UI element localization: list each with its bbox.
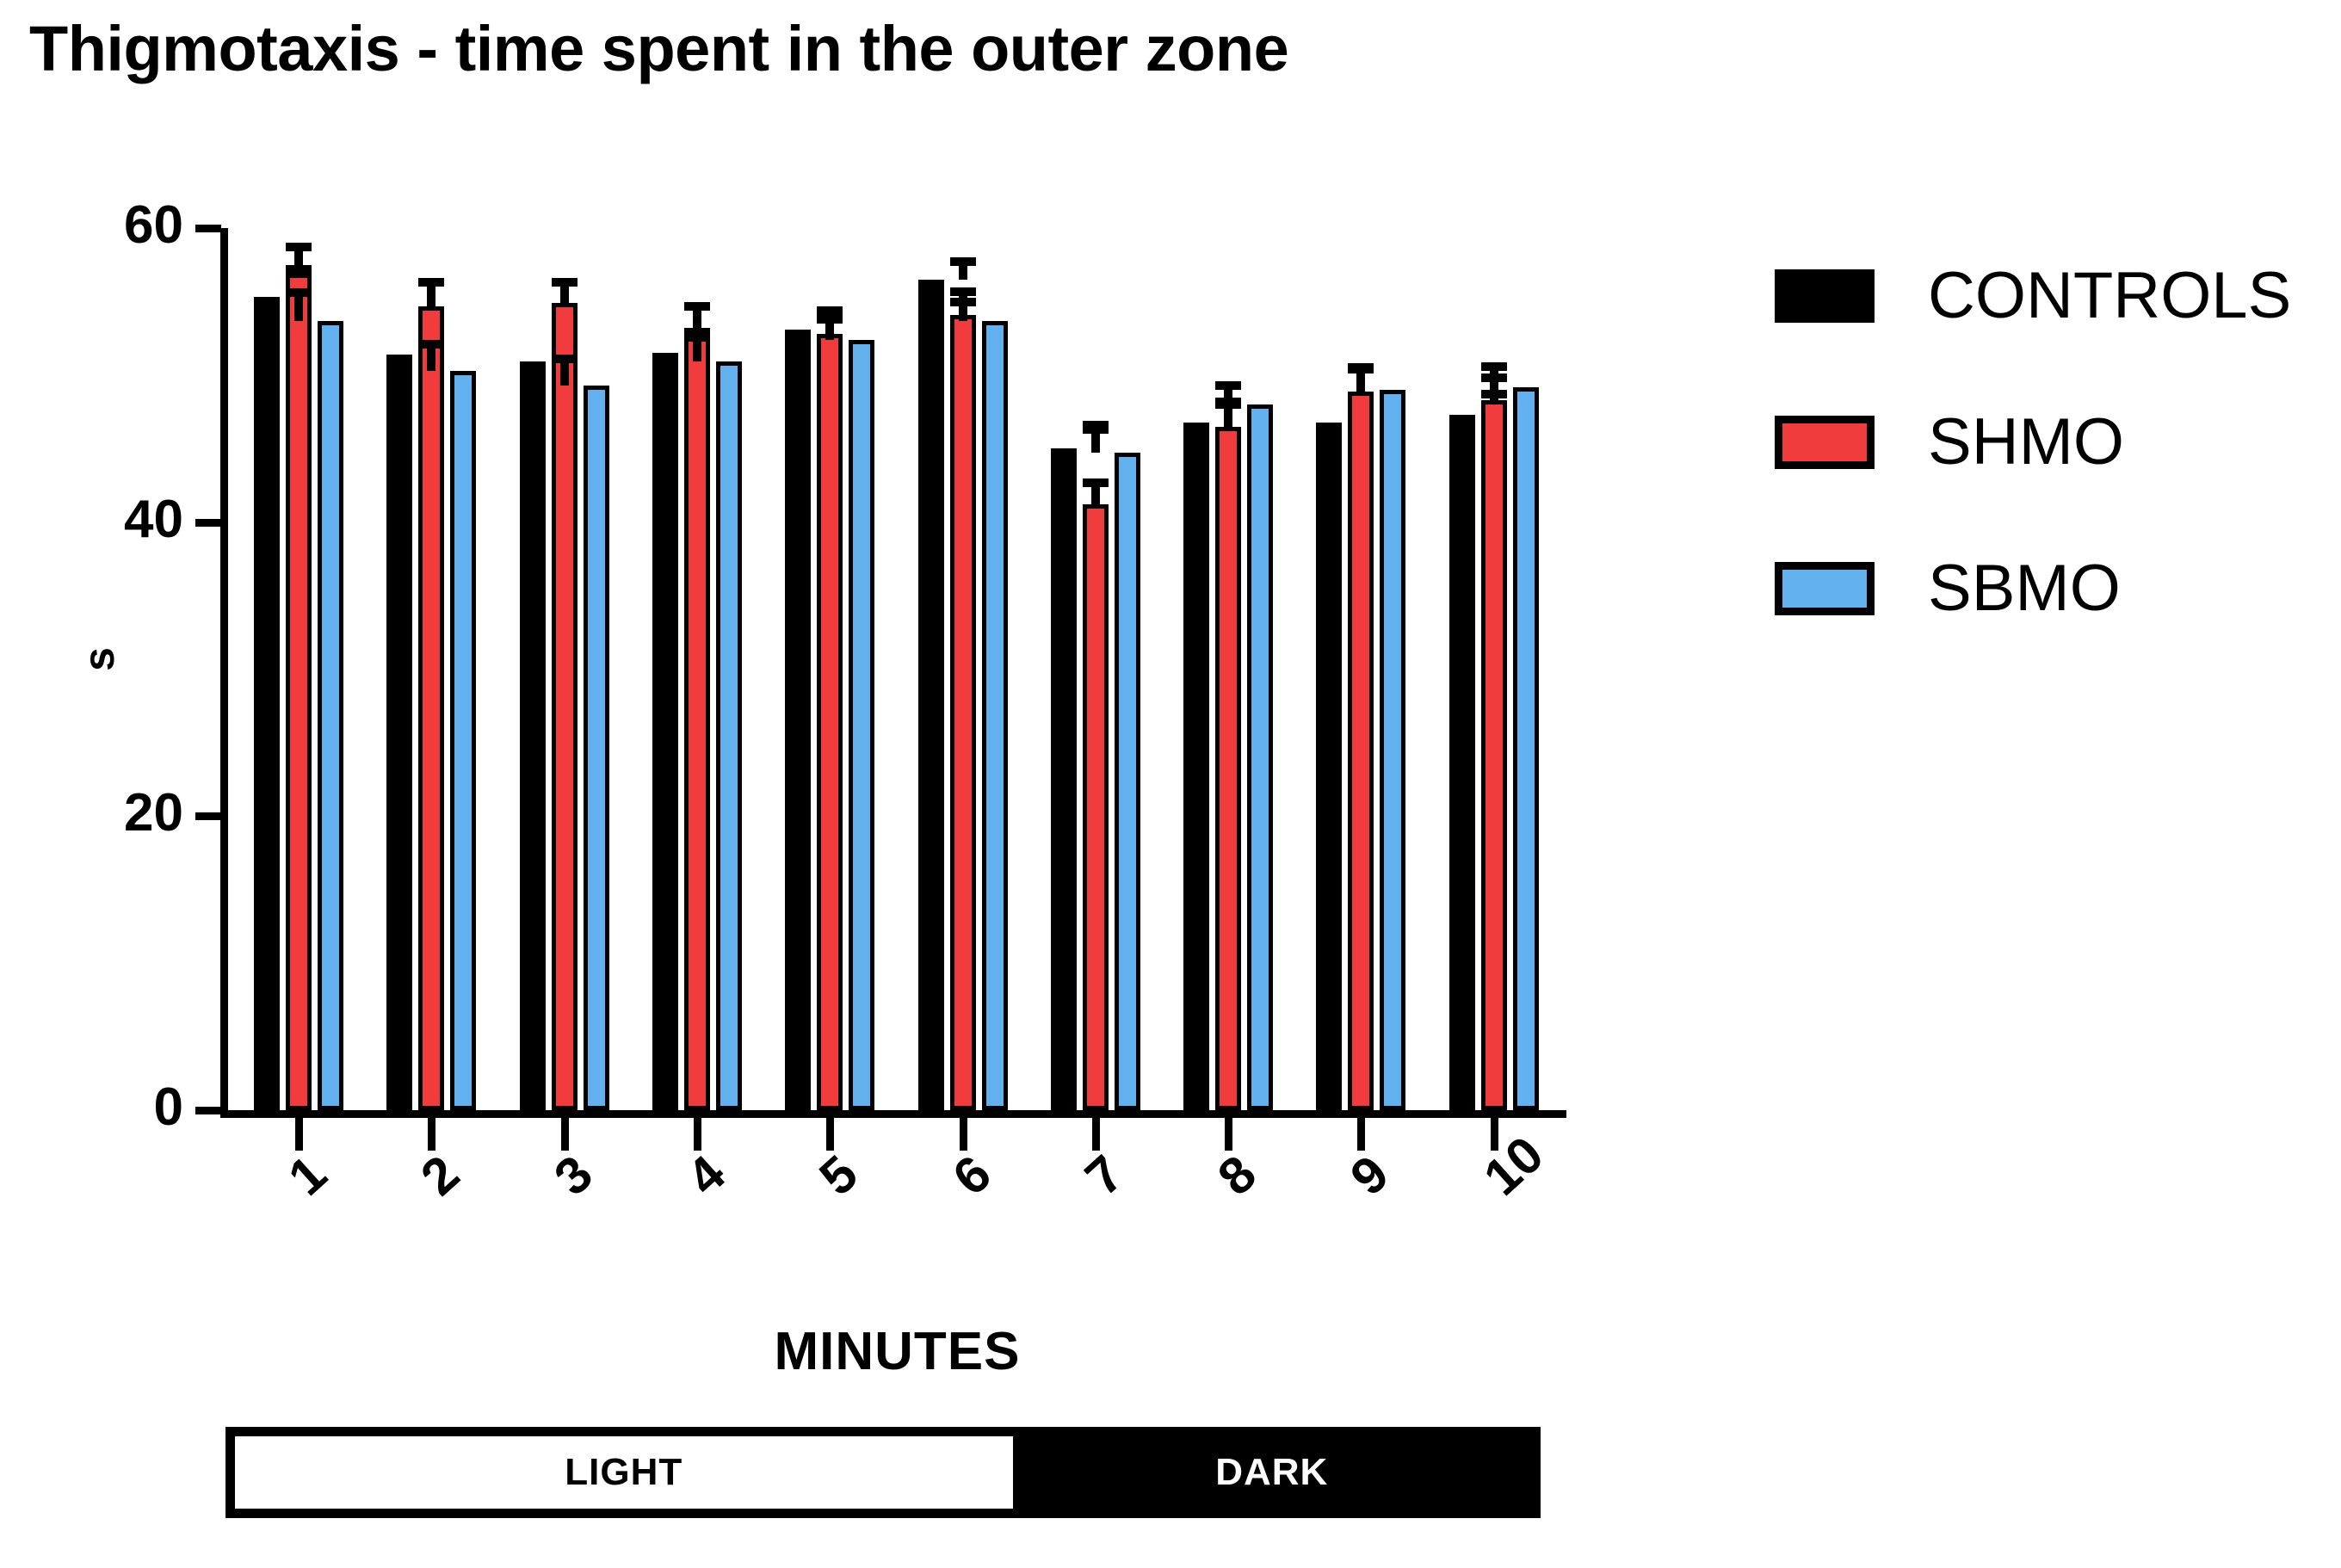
y-tick-label: 20: [124, 787, 183, 840]
legend-label: CONTROLS: [1928, 263, 2291, 329]
bar-controls-minute-8: [1183, 423, 1209, 1111]
error-bar-stem: [1356, 373, 1365, 390]
bar-shmo-minute-1: [286, 274, 312, 1110]
y-tick-mark: [195, 812, 221, 820]
plot-area: 0204060 s 12345678910 MINUTES: [228, 228, 1566, 1110]
x-tick-label: 6: [944, 1147, 1000, 1205]
error-bar-stem: [294, 251, 303, 274]
x-tick-label: 2: [412, 1147, 468, 1205]
error-bar-cap: [1083, 478, 1109, 487]
bar-group: [652, 228, 742, 1110]
error-bar-stem: [560, 363, 569, 386]
error-bar-cap: [286, 288, 312, 297]
error-bar-cap: [817, 315, 843, 324]
bar-group: [785, 228, 874, 1110]
bar-controls-minute-9: [1316, 423, 1342, 1111]
bar-group: [386, 228, 476, 1110]
bar-shmo-minute-2: [418, 306, 444, 1110]
bar-controls-minute-4: [652, 353, 678, 1110]
bar-controls-minute-2: [386, 355, 412, 1110]
bar-sbmo-minute-6: [982, 321, 1008, 1110]
error-bar-stem: [1091, 487, 1100, 505]
error-bar-cap: [684, 302, 710, 311]
x-tick-label: 7: [1077, 1147, 1133, 1205]
y-tick-label: 0: [154, 1081, 183, 1134]
bar-sbmo-minute-4: [716, 361, 742, 1110]
bar-shmo-minute-5: [817, 334, 843, 1110]
bar-shmo-minute-10: [1481, 400, 1507, 1110]
error-bar-cap: [286, 243, 312, 251]
error-bar-cap: [950, 287, 976, 296]
error-bar-stem: [959, 306, 967, 321]
error-bar-stem: [427, 287, 435, 306]
legend-swatch-controls: [1775, 269, 1875, 323]
error-bar-stem: [1490, 371, 1498, 387]
x-tick-label: 8: [1209, 1147, 1265, 1205]
bar-group: [1316, 228, 1405, 1110]
x-tick-label: 5: [811, 1147, 867, 1205]
error-bar-cap: [950, 257, 976, 266]
error-bar-cap: [1215, 381, 1241, 390]
page-title: Thigmotaxis - time spent in the outer zo…: [29, 12, 1288, 85]
x-axis-line: [220, 1110, 1566, 1118]
error-bar-stem: [959, 266, 967, 279]
bar-sbmo-minute-3: [584, 386, 609, 1110]
bar-shmo-minute-4: [684, 336, 710, 1110]
legend-swatch-shmo: [1775, 416, 1875, 469]
bar-controls-minute-1: [254, 297, 280, 1110]
legend: CONTROLSSHMOSBMO: [1775, 248, 2291, 687]
error-bar-stem: [825, 324, 834, 340]
error-bar-cap: [1083, 425, 1109, 434]
y-axis-title: s: [74, 590, 124, 728]
bar-sbmo-minute-1: [318, 321, 343, 1110]
error-bar-cap: [684, 333, 710, 342]
bar-shmo-minute-6: [950, 315, 976, 1110]
legend-label: SHMO: [1928, 410, 2124, 475]
x-tick-label: 3: [546, 1147, 602, 1205]
legend-item-controls[interactable]: CONTROLS: [1775, 248, 2291, 344]
error-bar-stem: [427, 349, 435, 371]
light-dark-phase-bar: LIGHT DARK: [225, 1427, 1541, 1518]
bar-sbmo-minute-10: [1513, 387, 1539, 1111]
error-bar-cap: [1481, 362, 1507, 371]
bar-shmo-minute-8: [1215, 427, 1241, 1110]
bar-sbmo-minute-7: [1115, 453, 1140, 1110]
error-bar-cap: [552, 355, 578, 363]
bar-shmo-minute-9: [1348, 392, 1374, 1110]
y-tick-mark: [195, 1107, 221, 1114]
error-bar-stem: [693, 311, 701, 336]
y-tick-label: 40: [124, 493, 183, 546]
error-bar-stem: [560, 287, 569, 303]
error-bar-stem: [294, 297, 303, 320]
x-tick-label: 1: [280, 1147, 336, 1205]
bar-controls-minute-3: [520, 361, 546, 1110]
y-tick-mark: [195, 519, 221, 527]
y-tick-mark: [195, 225, 221, 232]
error-bar-cap: [552, 278, 578, 287]
bar-sbmo-minute-5: [849, 340, 874, 1110]
bar-group: [1183, 228, 1273, 1110]
y-axis-line: [220, 228, 228, 1110]
bar-controls-minute-10: [1449, 415, 1475, 1110]
x-tick-label: 10: [1475, 1127, 1553, 1204]
bar-sbmo-minute-8: [1247, 404, 1273, 1110]
bar-group: [254, 228, 343, 1110]
bar-controls-minute-6: [918, 280, 944, 1110]
error-bar-cap: [418, 340, 444, 349]
legend-item-shmo[interactable]: SHMO: [1775, 394, 2291, 491]
bar-group: [918, 228, 1008, 1110]
legend-swatch-sbmo: [1775, 562, 1875, 615]
x-tick-label: 4: [678, 1147, 734, 1205]
error-bar-stem: [1224, 409, 1232, 427]
x-axis-title: MINUTES: [228, 1321, 1566, 1382]
error-bar-cap: [418, 278, 444, 287]
error-bar-cap: [1348, 365, 1374, 373]
x-tick-label: 9: [1342, 1147, 1398, 1205]
error-bar-stem: [1091, 434, 1100, 453]
bar-controls-minute-5: [785, 330, 811, 1110]
y-tick-label: 60: [124, 199, 183, 252]
bar-group: [1051, 228, 1140, 1110]
error-bar-cap: [950, 298, 976, 306]
bar-sbmo-minute-2: [450, 371, 476, 1110]
bar-group: [1449, 228, 1539, 1110]
bar-sbmo-minute-9: [1380, 390, 1405, 1110]
phase-light: LIGHT: [235, 1436, 1013, 1509]
legend-item-sbmo[interactable]: SBMO: [1775, 540, 2291, 637]
bar-group: [520, 228, 609, 1110]
error-bar-stem: [693, 342, 701, 362]
legend-label: SBMO: [1928, 556, 2121, 621]
phase-dark: DARK: [1013, 1436, 1531, 1509]
bar-shmo-minute-3: [552, 303, 578, 1110]
bar-controls-minute-7: [1051, 448, 1077, 1110]
bar-shmo-minute-7: [1083, 504, 1109, 1110]
error-bar-stem: [1224, 390, 1232, 404]
